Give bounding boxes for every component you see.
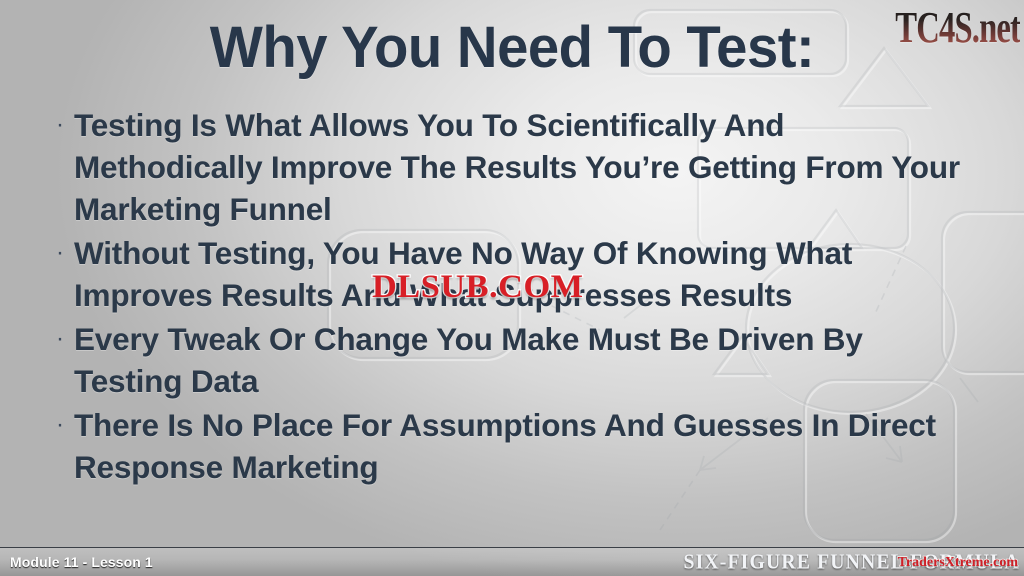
list-item: · Every Tweak Or Change You Make Must Be…	[46, 318, 972, 402]
bullet-dot-icon: ·	[46, 232, 74, 274]
bullet-text: Every Tweak Or Change You Make Must Be D…	[74, 318, 972, 402]
bullet-dot-icon: ·	[46, 404, 74, 446]
list-item: · There Is No Place For Assumptions And …	[46, 404, 972, 488]
presentation-slide: Why You Need To Test: · Testing Is What …	[0, 0, 1024, 576]
bullet-text: Testing Is What Allows You To Scientific…	[74, 104, 972, 230]
list-item: · Testing Is What Allows You To Scientif…	[46, 104, 972, 230]
bullet-dot-icon: ·	[46, 318, 74, 360]
watermark-tc4s: TC4S.net	[895, 2, 1020, 54]
slide-title: Why You Need To Test:	[15, 18, 1008, 79]
watermark-tradersxtreme: TradersXtreme.com	[898, 555, 1018, 571]
watermark-dlsub: DLSUB.COM	[372, 269, 584, 306]
slide-footer-bar: Module 11 - Lesson 1 SIX-FIGURE FUNNEL F…	[0, 547, 1024, 576]
bullet-text: There Is No Place For Assumptions And Gu…	[74, 404, 972, 488]
bullet-dot-icon: ·	[46, 104, 74, 146]
footer-module-label: Module 11 - Lesson 1	[10, 554, 153, 570]
